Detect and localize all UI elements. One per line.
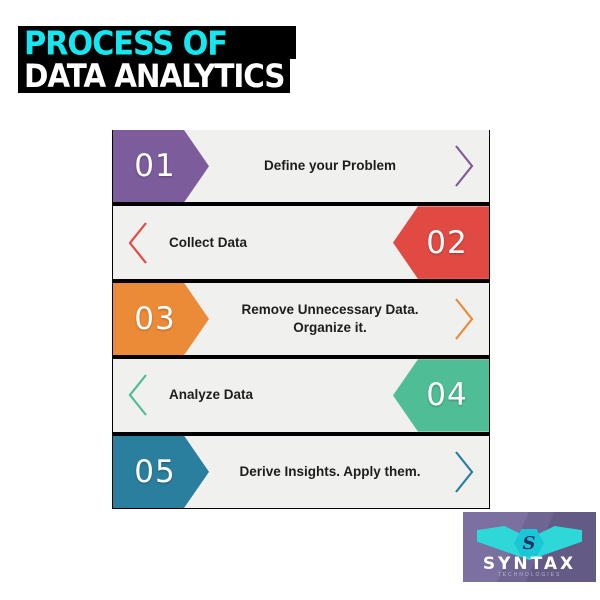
chevron-right-icon — [453, 296, 475, 342]
logo-name: SYNTAX — [463, 554, 596, 574]
step-number-badge: 01 — [113, 130, 209, 202]
step-number-badge: 03 — [113, 283, 209, 355]
step-row[interactable]: 03 Remove Unnecessary Data. Organize it. — [113, 283, 489, 355]
chevron-left-icon — [127, 220, 149, 266]
title-line-secondary: DATA ANALYTICS — [24, 60, 284, 92]
title-band-bottom: DATA ANALYTICS — [18, 59, 290, 93]
step-number-badge: 05 — [113, 436, 209, 508]
step-label: Define your Problem — [213, 130, 447, 202]
title-band-top: PROCESS OF — [18, 26, 296, 59]
step-row[interactable]: 04 Analyze Data — [113, 359, 489, 431]
syntax-logo: S SYNTAX TECHNOLOGIES — [463, 512, 596, 582]
step-label: Analyze Data — [159, 359, 389, 431]
step-row[interactable]: 02 Collect Data — [113, 206, 489, 278]
step-row[interactable]: 01 Define your Problem — [113, 130, 489, 202]
step-number: 04 — [426, 377, 467, 413]
step-label: Collect Data — [159, 206, 389, 278]
step-number: 03 — [134, 301, 175, 337]
step-number: 02 — [426, 225, 467, 261]
chevron-right-icon — [453, 143, 475, 189]
step-label: Derive Insights. Apply them. — [213, 436, 447, 508]
step-row[interactable]: 05 Derive Insights. Apply them. — [113, 436, 489, 508]
step-number: 05 — [134, 454, 175, 490]
step-number: 01 — [134, 148, 175, 184]
logo-subtitle: TECHNOLOGIES — [463, 572, 596, 578]
process-steps-panel: 01 Define your Problem 02 Collect Data 0… — [112, 130, 490, 509]
step-label: Remove Unnecessary Data. Organize it. — [213, 283, 447, 355]
chevron-right-icon — [453, 449, 475, 495]
chevron-left-icon — [127, 372, 149, 418]
page-title: PROCESS OF DATA ANALYTICS — [18, 26, 296, 93]
step-number-badge: 04 — [393, 359, 489, 431]
step-number-badge: 02 — [393, 206, 489, 278]
title-line-primary: PROCESS OF — [24, 26, 227, 59]
